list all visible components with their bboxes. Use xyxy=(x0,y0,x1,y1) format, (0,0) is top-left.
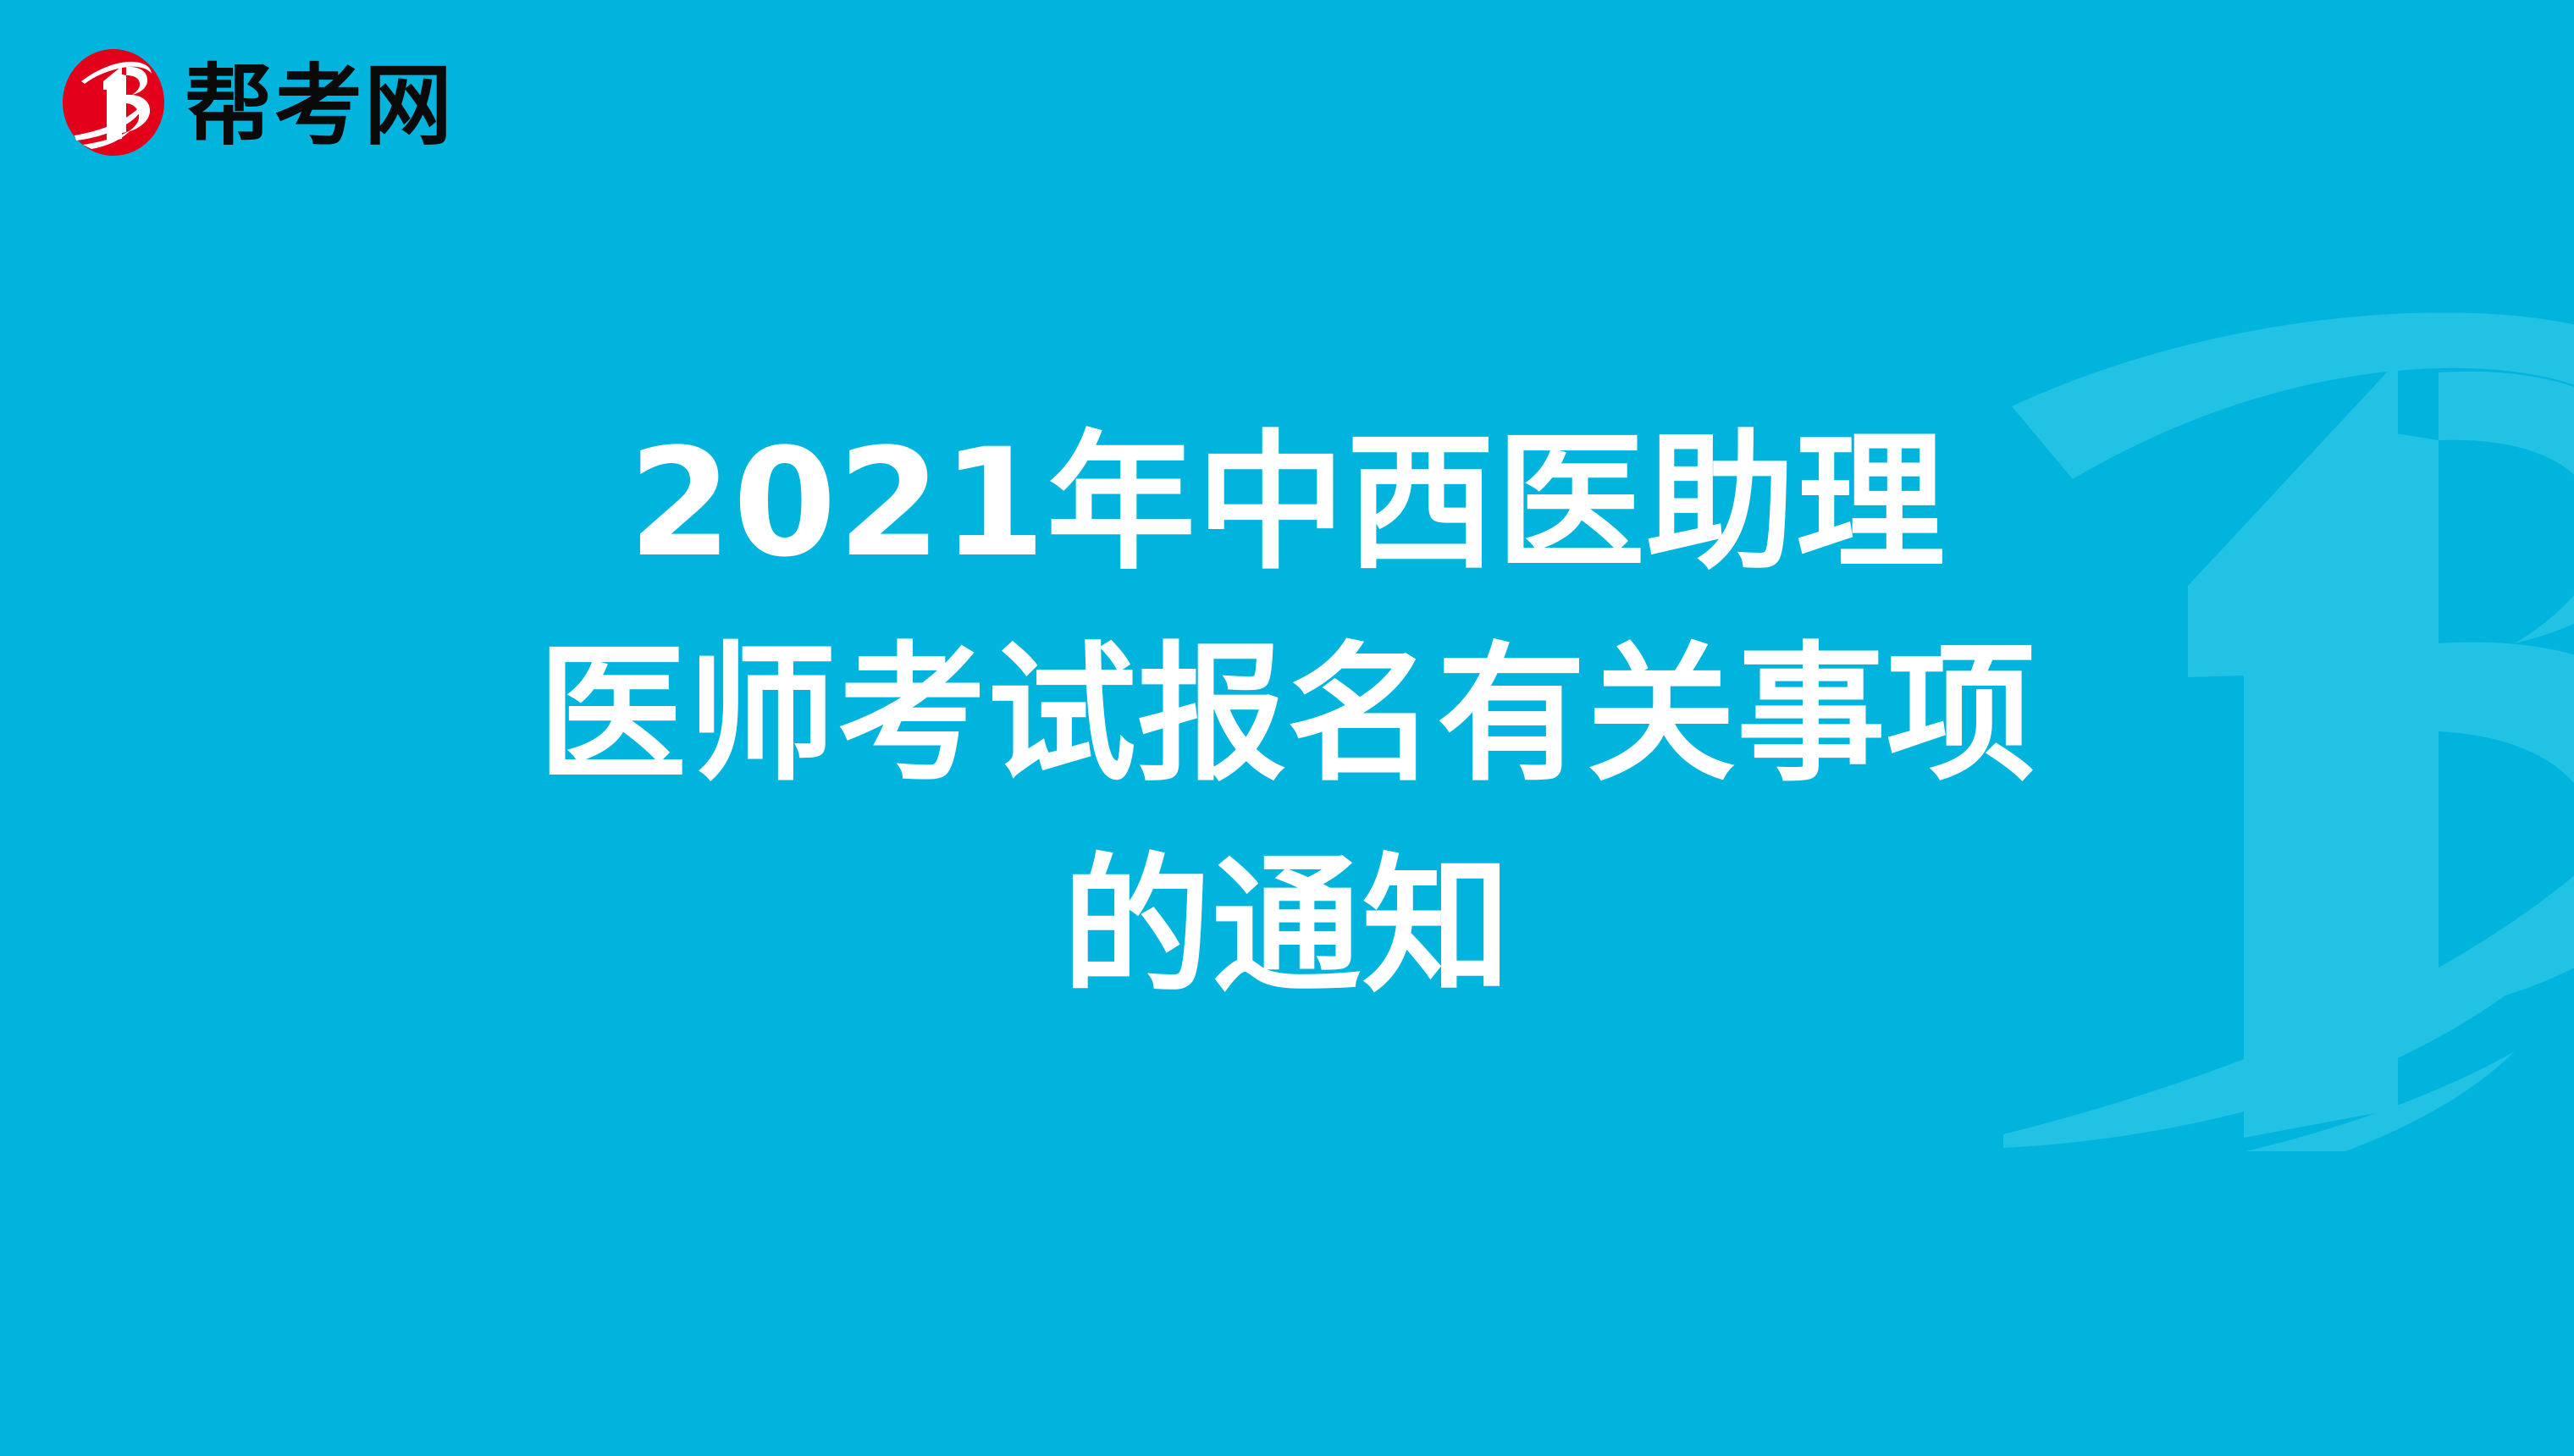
page-title-line-1: 2021年中西医助理 xyxy=(0,398,2574,609)
page-title-line-2: 医师考试报名有关事项 xyxy=(0,609,2574,821)
page-title: 2021年中西医助理 医师考试报名有关事项 的通知 xyxy=(0,398,2574,1033)
page-title-line-3: 的通知 xyxy=(0,821,2574,1033)
brand-logo[interactable]: 帮考网 xyxy=(61,47,454,157)
brand-wordmark: 帮考网 xyxy=(185,62,454,150)
poster-page: 帮考网 2021年中西医助理 医师考试报名有关事项 的通知 xyxy=(0,0,2574,1456)
b-monogram-badge-icon xyxy=(61,47,166,157)
